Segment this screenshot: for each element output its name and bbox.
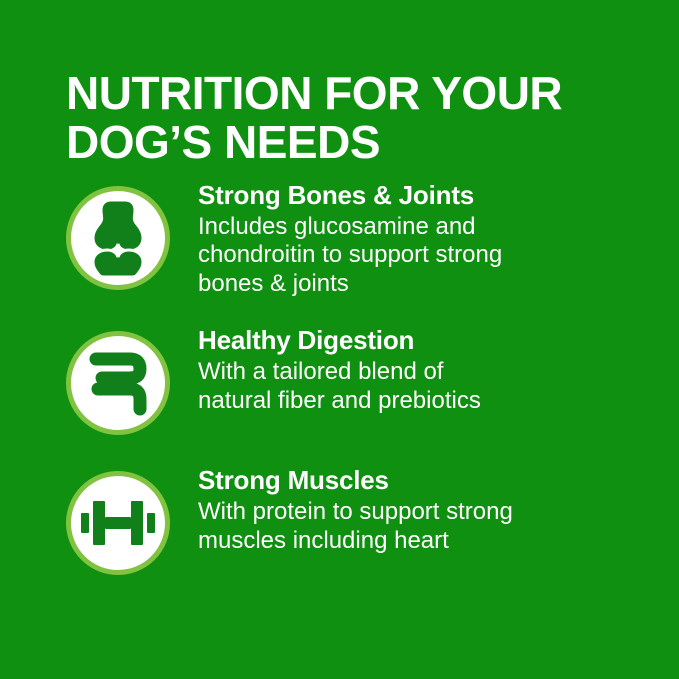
nutrition-benefits-poster: NUTRITION FOR YOUR DOG’S NEEDS Strong Bo… bbox=[0, 0, 679, 679]
dumbbell-icon-badge bbox=[66, 471, 170, 575]
dumbbell-icon bbox=[81, 499, 155, 547]
intestine-icon-badge bbox=[66, 331, 170, 435]
benefit-description: With a tailored blend of natural fiber a… bbox=[198, 358, 481, 416]
benefit-list: Strong Bones & Joints Includes glucosami… bbox=[0, 172, 679, 575]
benefit-title: Strong Muscles bbox=[198, 465, 513, 496]
benefit-description: With protein to support strong muscles i… bbox=[198, 498, 513, 556]
intestine-icon bbox=[86, 349, 150, 417]
list-item: Strong Bones & Joints Includes glucosami… bbox=[0, 172, 679, 299]
page-title: NUTRITION FOR YOUR DOG’S NEEDS bbox=[66, 69, 626, 167]
benefit-title: Healthy Digestion bbox=[198, 325, 481, 356]
benefit-text: Strong Bones & Joints Includes glucosami… bbox=[198, 172, 502, 299]
bone-joint-icon-badge bbox=[66, 186, 170, 290]
list-item: Healthy Digestion With a tailored blend … bbox=[0, 317, 679, 435]
benefit-title: Strong Bones & Joints bbox=[198, 180, 502, 211]
benefit-text: Strong Muscles With protein to support s… bbox=[198, 457, 513, 555]
benefit-description: Includes glucosamine and chondroitin to … bbox=[198, 213, 502, 299]
bone-joint-icon bbox=[87, 198, 149, 278]
list-item: Strong Muscles With protein to support s… bbox=[0, 457, 679, 575]
benefit-text: Healthy Digestion With a tailored blend … bbox=[198, 317, 481, 415]
